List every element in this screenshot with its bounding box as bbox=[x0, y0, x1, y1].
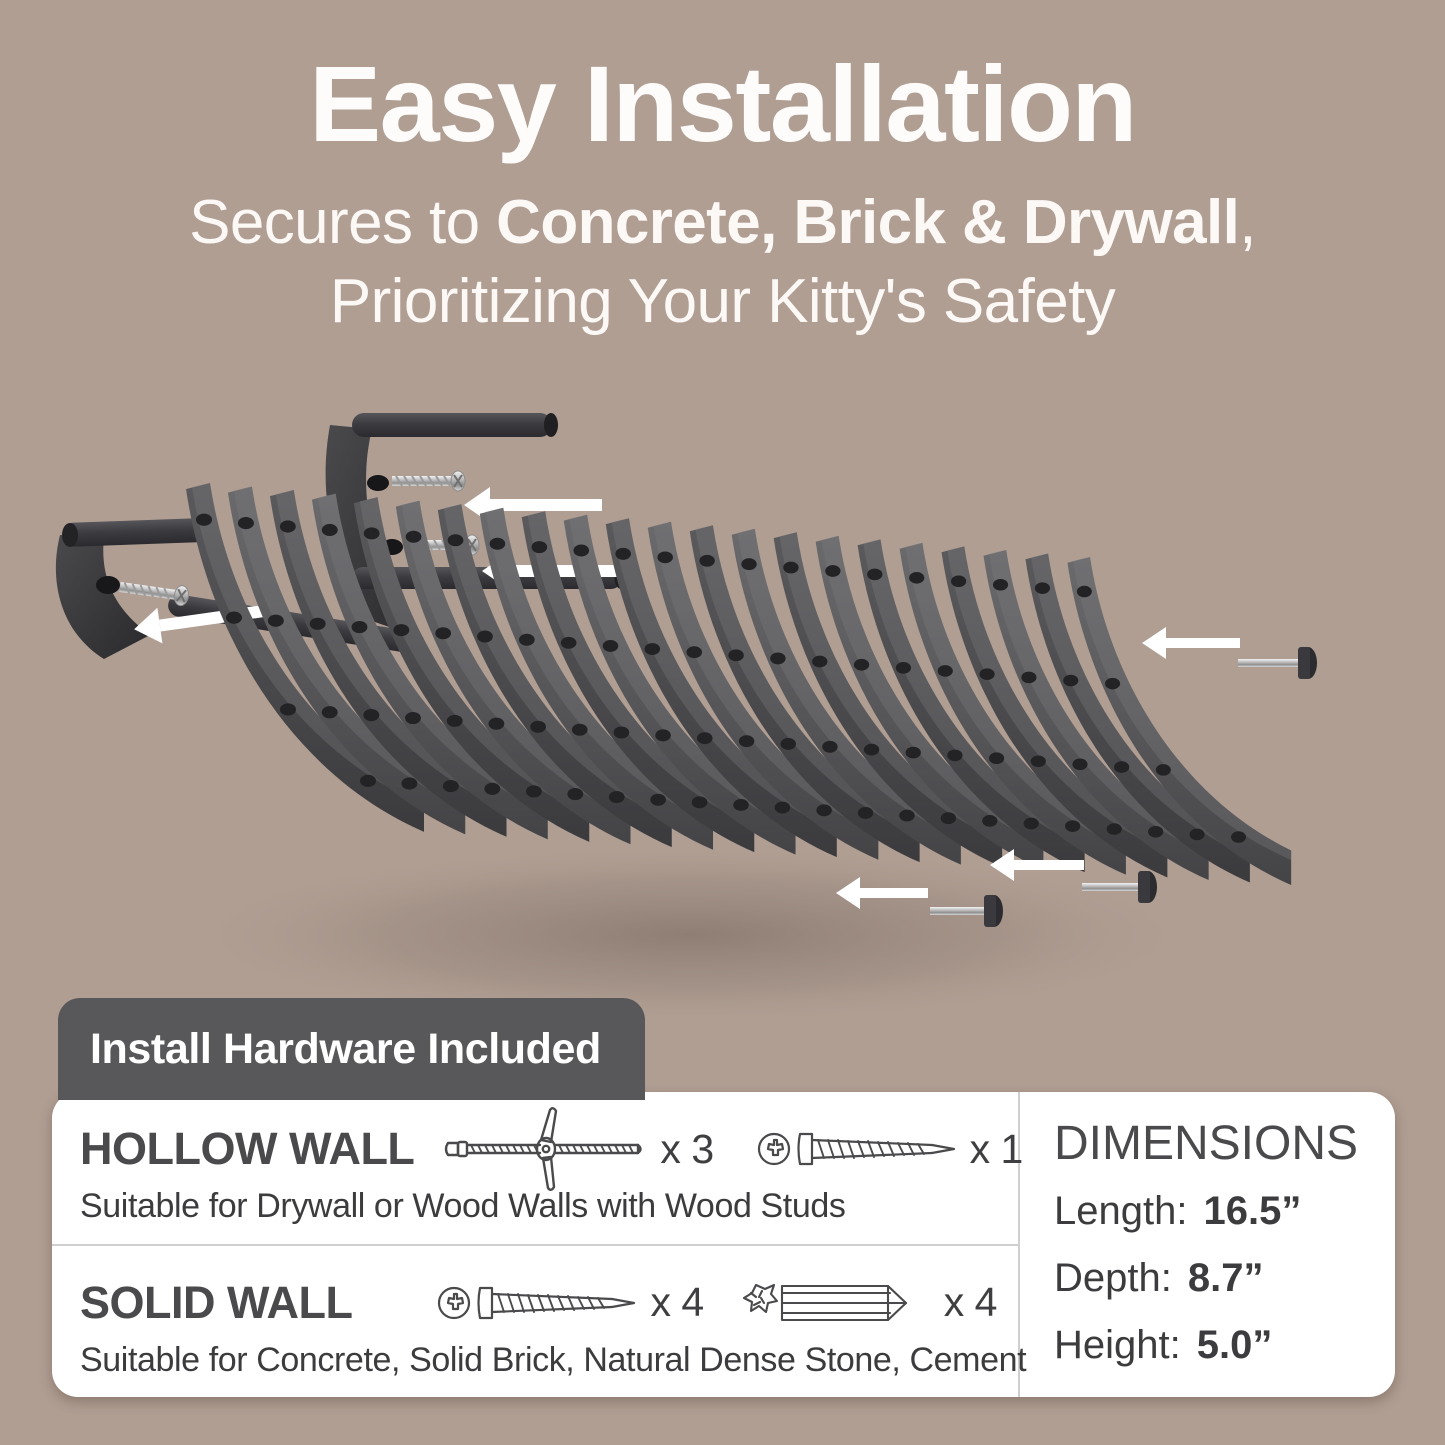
slat-hole bbox=[443, 780, 459, 792]
subtitle-line1-tail: , bbox=[1239, 188, 1256, 257]
slat-hole bbox=[1105, 678, 1120, 690]
slat-hole bbox=[280, 703, 296, 715]
slat-hole bbox=[1063, 675, 1078, 687]
dimension-label-length: Length: bbox=[1054, 1189, 1187, 1234]
slat-hole bbox=[405, 712, 421, 724]
dimensions-title: DIMENSIONS bbox=[1054, 1116, 1395, 1171]
slat-hole bbox=[1231, 831, 1246, 843]
slat-hole bbox=[687, 646, 703, 658]
slat-hole bbox=[532, 541, 548, 553]
slat-hole bbox=[448, 534, 464, 546]
slat-hole bbox=[1021, 672, 1036, 684]
slat-hole bbox=[993, 579, 1008, 591]
hardware-card: HOLLOW WALL bbox=[52, 1092, 1395, 1397]
slat-hole bbox=[572, 724, 588, 736]
slat-hole bbox=[854, 659, 869, 671]
dimension-label-height: Height: bbox=[1054, 1323, 1181, 1368]
slat-hole bbox=[825, 565, 840, 577]
slat-hole bbox=[989, 752, 1004, 764]
dimension-row-length: Length: 16.5” bbox=[1054, 1189, 1395, 1234]
dimension-label-depth: Depth: bbox=[1054, 1256, 1172, 1301]
hollow-wall-row: HOLLOW WALL bbox=[52, 1092, 1018, 1246]
slat-hole bbox=[657, 551, 673, 563]
slat-hole bbox=[692, 796, 708, 808]
install-hardware-tab: Install Hardware Included bbox=[58, 998, 645, 1100]
solid-wall-subtitle: Suitable for Concrete, Solid Brick, Natu… bbox=[80, 1341, 1018, 1380]
hollow-wall-title: HOLLOW WALL bbox=[80, 1123, 414, 1175]
slat-hole bbox=[196, 514, 212, 526]
slat-hole bbox=[1031, 755, 1046, 767]
slat-hole bbox=[352, 621, 368, 633]
solid-wood-screw-group: x 4 bbox=[436, 1272, 703, 1334]
slat-hole bbox=[603, 640, 619, 652]
slat-hole bbox=[1107, 823, 1122, 835]
hollow-wood-screw-qty: x 1 bbox=[970, 1126, 1023, 1173]
slat-hole bbox=[816, 804, 832, 816]
subtitle-line2: Prioritizing Your Kitty's Safety bbox=[330, 267, 1115, 336]
slat-hole bbox=[268, 615, 284, 627]
slat-hole bbox=[822, 741, 837, 753]
slat-hole bbox=[645, 643, 661, 655]
slat-hole bbox=[573, 545, 589, 557]
slat-hole bbox=[697, 732, 713, 744]
slat-hole bbox=[364, 527, 380, 539]
slat-hole bbox=[775, 802, 791, 814]
dimension-row-height: Height: 5.0” bbox=[1054, 1323, 1395, 1368]
slat-hole bbox=[982, 815, 997, 827]
slat-hole bbox=[447, 715, 463, 727]
slat-hole bbox=[1190, 829, 1205, 841]
page-subtitle: Secures to Concrete, Brick & Drywall, Pr… bbox=[0, 183, 1445, 342]
slat-hole bbox=[655, 729, 671, 741]
slat-hole bbox=[393, 624, 409, 636]
slat-hole bbox=[484, 783, 500, 795]
slat-hole bbox=[867, 569, 882, 581]
solid-wall-row: SOLID WALL bbox=[52, 1246, 1018, 1398]
slat-hole bbox=[477, 630, 493, 642]
slat-hole bbox=[941, 812, 956, 824]
slat-hole bbox=[1148, 826, 1163, 838]
header-block: Easy Installation Secures to Concrete, B… bbox=[0, 46, 1445, 341]
dimension-value-depth: 8.7” bbox=[1188, 1256, 1264, 1301]
slat-hole bbox=[1072, 758, 1087, 770]
slat-hole bbox=[519, 634, 535, 646]
wood-screw-icon bbox=[756, 1118, 964, 1180]
toggle-bolt-group: x 3 bbox=[442, 1106, 713, 1192]
slat-hole bbox=[741, 558, 756, 570]
slat-hole bbox=[561, 637, 577, 649]
wall-anchor-qty: x 4 bbox=[944, 1279, 997, 1326]
slat-hole bbox=[530, 721, 546, 733]
infographic-canvas: Easy Installation Secures to Concrete, B… bbox=[0, 0, 1445, 1445]
slat-hole bbox=[406, 531, 422, 543]
slat-hole bbox=[238, 517, 254, 529]
slat-hole bbox=[614, 727, 630, 739]
slat-hole bbox=[938, 665, 953, 677]
toggle-bolt-qty: x 3 bbox=[660, 1126, 713, 1173]
slat-hole bbox=[363, 709, 379, 721]
solid-wood-screw-qty: x 4 bbox=[650, 1279, 703, 1326]
hollow-wall-row-top: HOLLOW WALL bbox=[80, 1113, 1018, 1185]
slat-hole bbox=[812, 656, 827, 668]
dimensions-list: Length: 16.5” Depth: 8.7” Height: 5.0” bbox=[1054, 1189, 1395, 1368]
slat-hole bbox=[1024, 818, 1039, 830]
slat-hole bbox=[310, 618, 326, 630]
slat-hole bbox=[699, 555, 714, 567]
dimension-row-depth: Depth: 8.7” bbox=[1054, 1256, 1395, 1301]
cat-wall-shelf-render bbox=[0, 395, 1445, 1015]
hollow-wood-screw-group: x 1 bbox=[756, 1118, 1023, 1180]
wall-type-column: HOLLOW WALL bbox=[52, 1092, 1020, 1397]
slat-hole bbox=[733, 799, 749, 811]
wood-screw-icon bbox=[436, 1272, 644, 1334]
slat-hole bbox=[1114, 761, 1129, 773]
install-hardware-tab-label: Install Hardware Included bbox=[90, 1025, 601, 1074]
slat-hole bbox=[781, 738, 796, 750]
dimensions-panel: DIMENSIONS Length: 16.5” Depth: 8.7” Hei… bbox=[1020, 1092, 1395, 1397]
slat-hole bbox=[1077, 586, 1092, 598]
slat-hole bbox=[280, 520, 296, 532]
slat-hole bbox=[896, 662, 911, 674]
slat-hole bbox=[909, 572, 924, 584]
slat-hole bbox=[567, 788, 583, 800]
slat-hole bbox=[435, 627, 451, 639]
slat-hole bbox=[770, 653, 785, 665]
wall-anchor-group: x 4 bbox=[738, 1275, 997, 1331]
slat-hole bbox=[322, 706, 338, 718]
hollow-wall-subtitle: Suitable for Drywall or Wood Walls with … bbox=[80, 1187, 1018, 1226]
slat-hole bbox=[615, 548, 631, 560]
slat-hole bbox=[783, 562, 798, 574]
slat-hole bbox=[490, 538, 506, 550]
slat-hole bbox=[951, 575, 966, 587]
wall-anchor-icon bbox=[738, 1275, 938, 1331]
subtitle-line1-regular: Secures to bbox=[189, 188, 496, 257]
slat-hole bbox=[1156, 764, 1171, 776]
slat-hole bbox=[858, 807, 873, 819]
solid-wall-title: SOLID WALL bbox=[80, 1277, 352, 1329]
slat-hole bbox=[906, 747, 921, 759]
slat-hole bbox=[947, 750, 962, 762]
dimension-value-length: 16.5” bbox=[1203, 1189, 1301, 1234]
slat-hole bbox=[979, 668, 994, 680]
slat-hole bbox=[360, 775, 376, 787]
slat-hole bbox=[1065, 820, 1080, 832]
slat-hole bbox=[864, 744, 879, 756]
slat-hole bbox=[489, 718, 505, 730]
product-image bbox=[0, 395, 1445, 1015]
dimension-value-height: 5.0” bbox=[1197, 1323, 1273, 1368]
slat-hole bbox=[609, 791, 625, 803]
slat-hole bbox=[322, 524, 338, 536]
slat-hole bbox=[1035, 582, 1050, 594]
subtitle-line1-bold: Concrete, Brick & Drywall bbox=[496, 188, 1239, 257]
slat-hole bbox=[899, 810, 914, 822]
slat-hole bbox=[650, 794, 666, 806]
page-title: Easy Installation bbox=[0, 46, 1445, 163]
slat-hole bbox=[728, 649, 743, 661]
slat-hole bbox=[226, 612, 242, 624]
slat-hole bbox=[401, 777, 417, 789]
solid-wall-row-top: SOLID WALL bbox=[80, 1267, 1018, 1339]
slat-hole bbox=[526, 785, 542, 797]
toggle-bolt-icon bbox=[442, 1106, 654, 1192]
slat-hole bbox=[739, 735, 755, 747]
